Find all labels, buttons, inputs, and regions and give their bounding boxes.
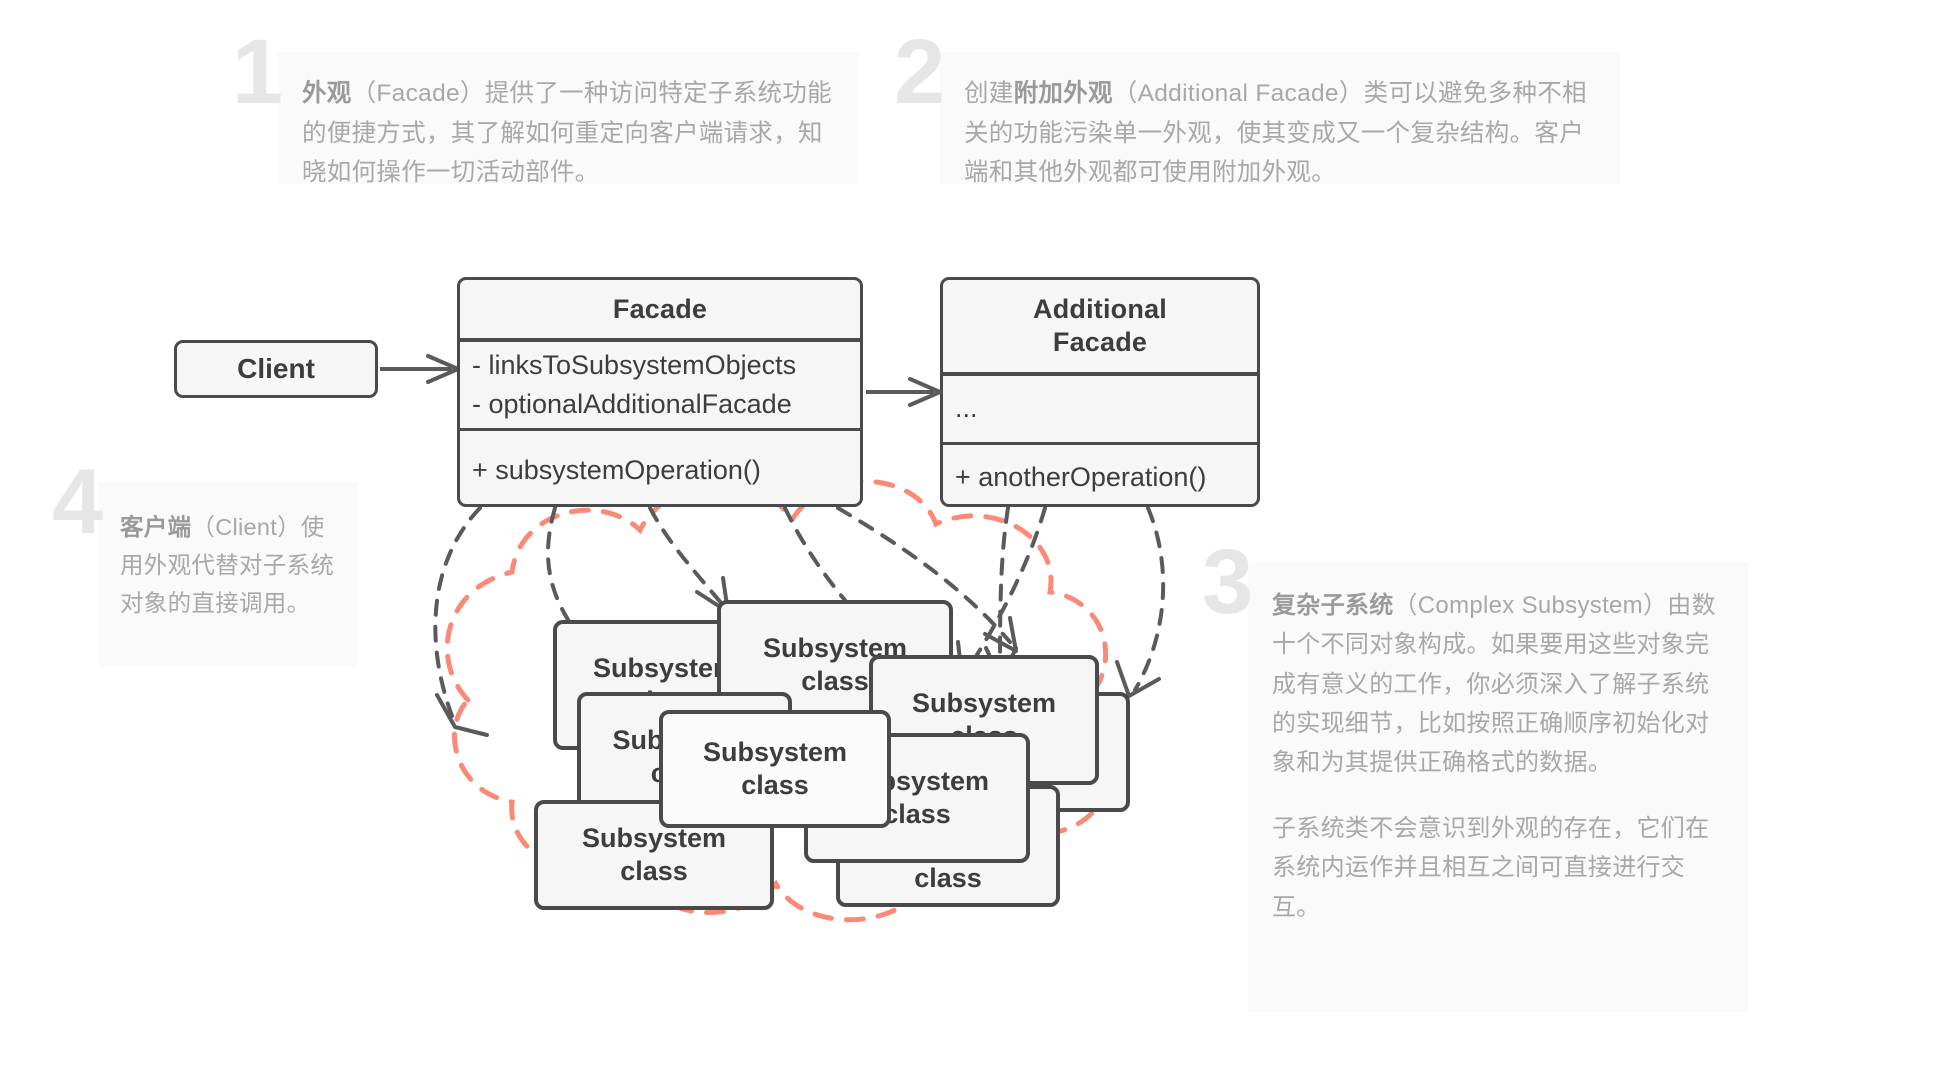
annotation-rest: （Complex Subsystem）由数十个不同对象构成。如果要用这些对象完成… bbox=[1272, 592, 1716, 776]
annotation-lead-prefix: 创建 bbox=[964, 80, 1014, 107]
annotation-text: 创建附加外观（Additional Facade）类可以避免多种不相关的功能污染… bbox=[964, 74, 1598, 193]
annotation-number: 3 bbox=[1202, 536, 1253, 628]
annotation-number: 4 bbox=[52, 456, 103, 548]
annotation-lead: 附加外观 bbox=[1014, 80, 1113, 107]
annotation-text: 外观（Facade）提供了一种访问特定子系统功能的便捷方式，其了解如何重定向客户… bbox=[302, 74, 836, 193]
annotation-text: 客户端（Client）使用外观代替对子系统对象的直接调用。 bbox=[120, 508, 344, 622]
annotation-note-2: 2 创建附加外观（Additional Facade）类可以避免多种不相关的功能… bbox=[940, 52, 1620, 184]
annotation-text: 复杂子系统（Complex Subsystem）由数十个不同对象构成。如果要用这… bbox=[1272, 586, 1726, 927]
annotation-rest: （Facade）提供了一种访问特定子系统功能的便捷方式，其了解如何重定向客户端请… bbox=[302, 80, 832, 186]
annotation-paragraph-2: 子系统类不会意识到外观的存在，它们在系统内运作并且相互之间可直接进行交互。 bbox=[1272, 815, 1709, 921]
annotation-note-1: 1 外观（Facade）提供了一种访问特定子系统功能的便捷方式，其了解如何重定向… bbox=[278, 52, 858, 184]
annotation-number: 1 bbox=[232, 26, 283, 118]
annotation-note-4: 4 客户端（Client）使用外观代替对子系统对象的直接调用。 bbox=[98, 482, 358, 667]
annotation-lead: 外观 bbox=[302, 80, 352, 107]
annotation-lead: 客户端 bbox=[120, 514, 191, 540]
annotation-number: 2 bbox=[894, 26, 945, 118]
annotation-spacer bbox=[1272, 783, 1726, 809]
annotation-note-3: 3 复杂子系统（Complex Subsystem）由数十个不同对象构成。如果要… bbox=[1248, 562, 1748, 1012]
annotation-lead: 复杂子系统 bbox=[1272, 592, 1394, 619]
